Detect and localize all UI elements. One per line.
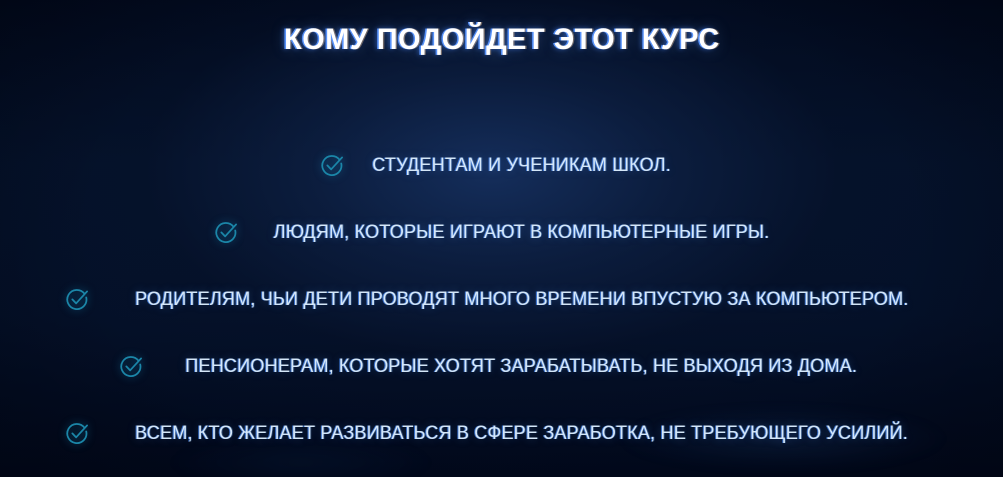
list-item: ВСЕМ, КТО ЖЕЛАЕТ РАЗВИВАТЬСЯ В СФЕРЕ ЗАР… [0,400,1003,467]
list-item-label: РОДИТЕЛЯМ, ЧЬИ ДЕТИ ПРОВОДЯТ МНОГО ВРЕМЕ… [135,288,908,311]
list-item: ЛЮДЯМ, КОТОРЫЕ ИГРАЮТ В КОМПЬЮТЕРНЫЕ ИГР… [0,199,1003,266]
list-item-label: ЛЮДЯМ, КОТОРЫЕ ИГРАЮТ В КОМПЬЮТЕРНЫЕ ИГР… [274,221,770,244]
check-circle-icon [215,221,238,244]
list-item-label: ВСЕМ, КТО ЖЕЛАЕТ РАЗВИВАТЬСЯ В СФЕРЕ ЗАР… [135,422,908,445]
audience-list: СТУДЕНТАМ И УЧЕНИКАМ ШКОЛ. ЛЮДЯМ, КОТОРЫ… [0,132,1003,467]
page-title: КОМУ ПОДОЙДЕТ ЭТОТ КУРС [284,22,720,58]
list-item: РОДИТЕЛЯМ, ЧЬИ ДЕТИ ПРОВОДЯТ МНОГО ВРЕМЕ… [0,266,1003,333]
check-circle-icon [66,288,89,311]
list-item-label: ПЕНСИОНЕРАМ, КОТОРЫЕ ХОТЯТ ЗАРАБАТЫВАТЬ,… [186,355,858,378]
list-item: ПЕНСИОНЕРАМ, КОТОРЫЕ ХОТЯТ ЗАРАБАТЫВАТЬ,… [0,333,1003,400]
page-title-container: КОМУ ПОДОЙДЕТ ЭТОТ КУРС [0,22,1003,58]
check-circle-icon [66,422,89,445]
list-item-label: СТУДЕНТАМ И УЧЕНИКАМ ШКОЛ. [372,154,671,177]
check-circle-icon [321,154,344,177]
course-audience-section: КОМУ ПОДОЙДЕТ ЭТОТ КУРС СТУДЕНТАМ И УЧЕН… [0,0,1003,477]
check-circle-icon [120,355,143,378]
list-item: СТУДЕНТАМ И УЧЕНИКАМ ШКОЛ. [0,132,1003,199]
